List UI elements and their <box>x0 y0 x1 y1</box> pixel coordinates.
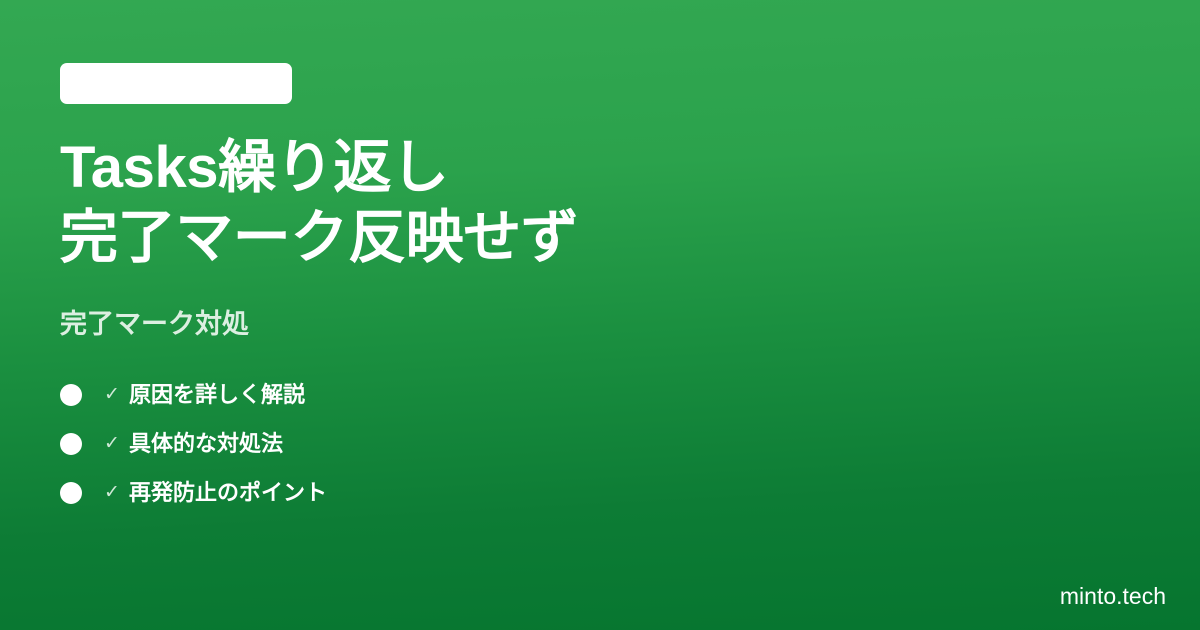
page-title-line-2: 完了マーク反映せず <box>60 203 578 273</box>
feature-list: ✓ 原因を詳しく解説 ✓ 具体的な対処法 ✓ 再発防止のポイント <box>60 381 327 507</box>
check-icon: ✓ <box>101 384 123 406</box>
list-item-label: 再発防止のポイント <box>129 479 327 507</box>
list-item-label: 具体的な対処法 <box>129 430 283 458</box>
bullet-dot-icon <box>60 384 82 406</box>
site-watermark: minto.tech <box>1060 582 1166 610</box>
bullet-dot-icon <box>60 433 82 455</box>
list-item: ✓ 具体的な対処法 <box>60 430 327 458</box>
check-icon: ✓ <box>101 482 123 504</box>
check-icon: ✓ <box>101 433 123 455</box>
page-subtitle: 完了マーク対処 <box>60 306 249 342</box>
og-card: Tasks繰り返し 完了マーク反映せず 完了マーク対処 ✓ 原因を詳しく解説 ✓… <box>0 0 1200 630</box>
list-item: ✓ 再発防止のポイント <box>60 479 327 507</box>
page-title: Tasks繰り返し 完了マーク反映せず <box>60 133 578 273</box>
list-item-label: 原因を詳しく解説 <box>129 381 305 409</box>
category-badge <box>60 63 292 104</box>
bullet-dot-icon <box>60 482 82 504</box>
list-item: ✓ 原因を詳しく解説 <box>60 381 327 409</box>
page-title-line-1: Tasks繰り返し <box>60 133 578 203</box>
